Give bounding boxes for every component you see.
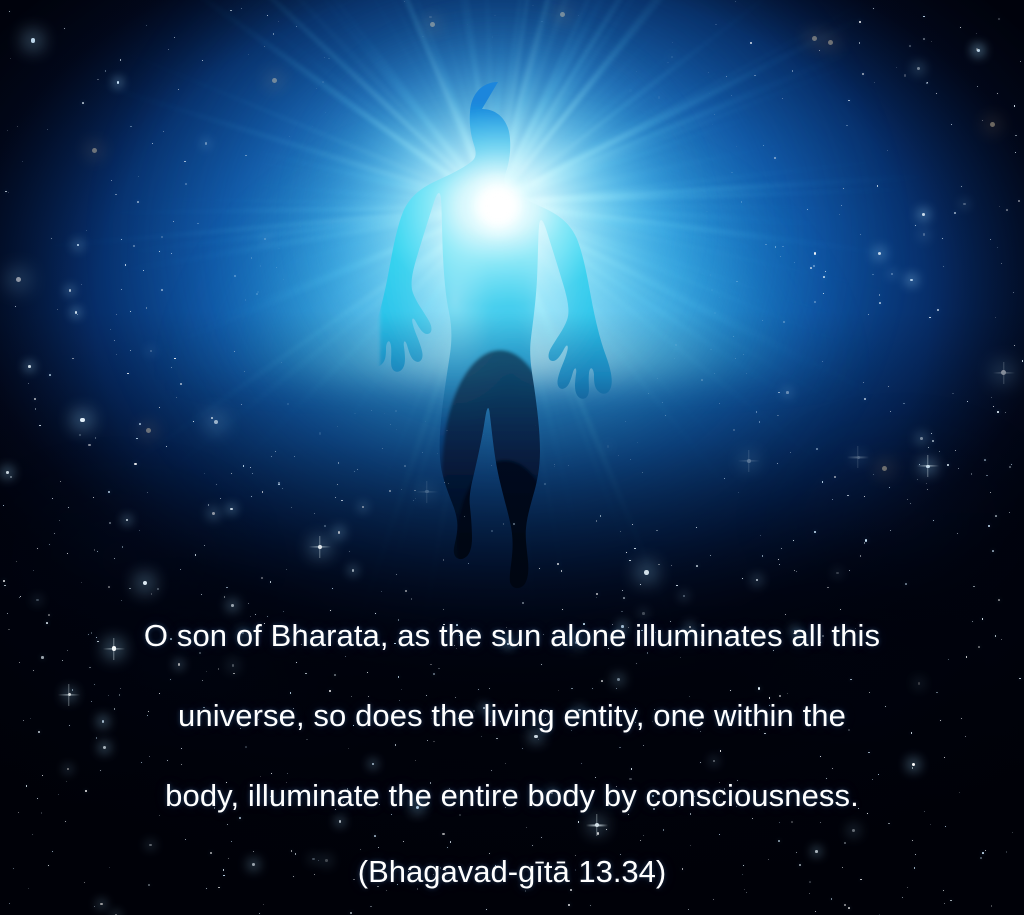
quote-line-2: universe, so does the living entity, one… (0, 676, 1024, 756)
quote-block: O son of Bharata, as the sun alone illum… (0, 596, 1024, 894)
image-canvas: O son of Bharata, as the sun alone illum… (0, 0, 1024, 915)
scripture-citation: (Bhagavad-gītā 13.34) (0, 850, 1024, 894)
quote-line-1: O son of Bharata, as the sun alone illum… (0, 596, 1024, 676)
quote-line-3: body, illuminate the entire body by cons… (0, 756, 1024, 836)
